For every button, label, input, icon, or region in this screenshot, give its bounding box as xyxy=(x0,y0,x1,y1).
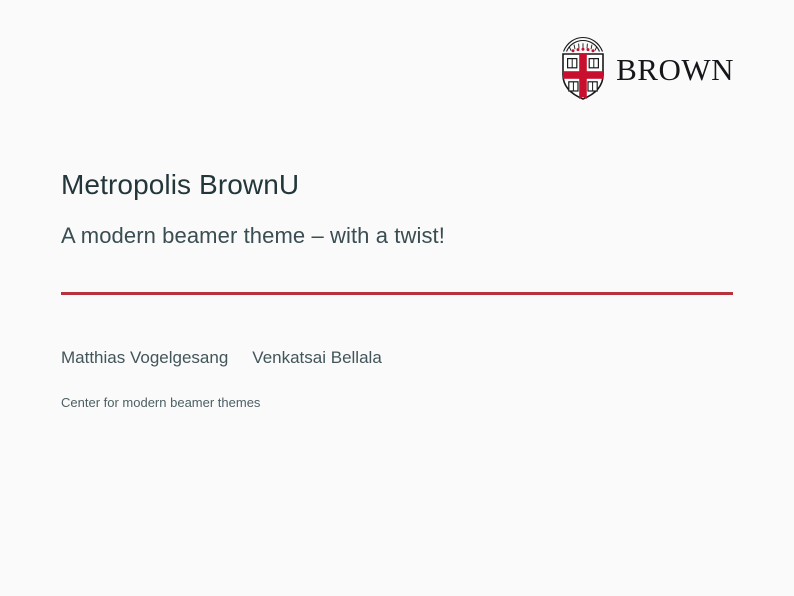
title-separator-rule xyxy=(61,292,733,295)
brown-shield-icon xyxy=(559,33,607,101)
author-name: Venkatsai Bellala xyxy=(252,348,381,367)
author-list: Matthias VogelgesangVenkatsai Bellala xyxy=(61,347,382,368)
page-title: Metropolis BrownU xyxy=(61,168,741,201)
author-name: Matthias Vogelgesang xyxy=(61,348,228,367)
brown-university-logo: BROWN xyxy=(559,33,734,101)
institute-label: Center for modern beamer themes xyxy=(61,395,260,411)
title-block: Metropolis BrownU A modern beamer theme … xyxy=(61,168,741,249)
brown-wordmark: BROWN xyxy=(616,54,734,85)
page-subtitle: A modern beamer theme – with a twist! xyxy=(61,223,741,249)
title-slide: BROWN Metropolis BrownU A modern beamer … xyxy=(0,0,794,596)
